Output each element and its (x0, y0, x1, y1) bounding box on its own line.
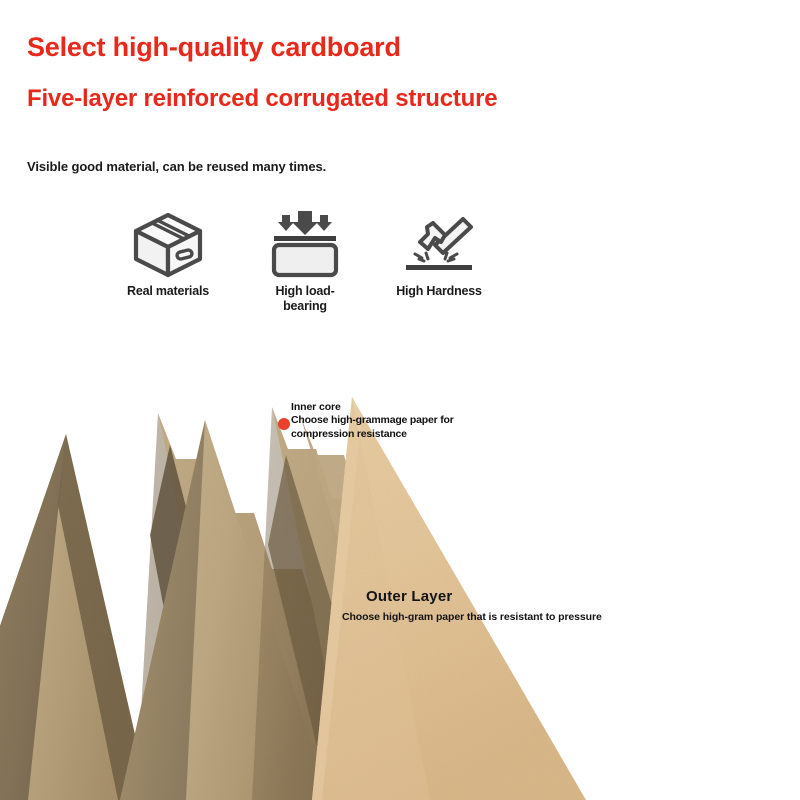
callout-inner-body: Choose high-grammage paper for compressi… (291, 414, 466, 441)
heading-block: Select high-quality cardboard Five-layer… (27, 34, 767, 111)
callout-outer-title: Outer Layer (366, 588, 706, 606)
feature-label: Real materials (125, 284, 211, 299)
feature-label: High load-bearing (270, 284, 340, 314)
page-subtitle: Five-layer reinforced corrugated structu… (27, 87, 767, 111)
callout-outer-layer: Outer Layer Choose high-gram paper that … (366, 588, 706, 624)
tagline: Visible good material, can be reused man… (27, 159, 326, 174)
feature-high-load-bearing: High load-bearing (250, 208, 360, 314)
callout-inner-core: Inner core Choose high-grammage paper fo… (291, 401, 471, 442)
feature-high-hardness: High Hardness (384, 208, 494, 299)
callout-outer-body: Choose high-gram paper that is resistant… (342, 611, 706, 624)
feature-real-materials: Real materials (113, 208, 223, 299)
load-bearing-icon (265, 208, 345, 280)
page-title: Select high-quality cardboard (27, 34, 767, 61)
callout-inner-title: Inner core (291, 401, 471, 414)
feature-list: Real materials High load-bearing (113, 208, 533, 328)
feature-label: High Hardness (396, 284, 482, 299)
inner-core-marker-dot (278, 418, 290, 430)
box-icon (126, 208, 210, 280)
promo-page: Select high-quality cardboard Five-layer… (0, 0, 800, 800)
hammer-icon (397, 208, 481, 280)
